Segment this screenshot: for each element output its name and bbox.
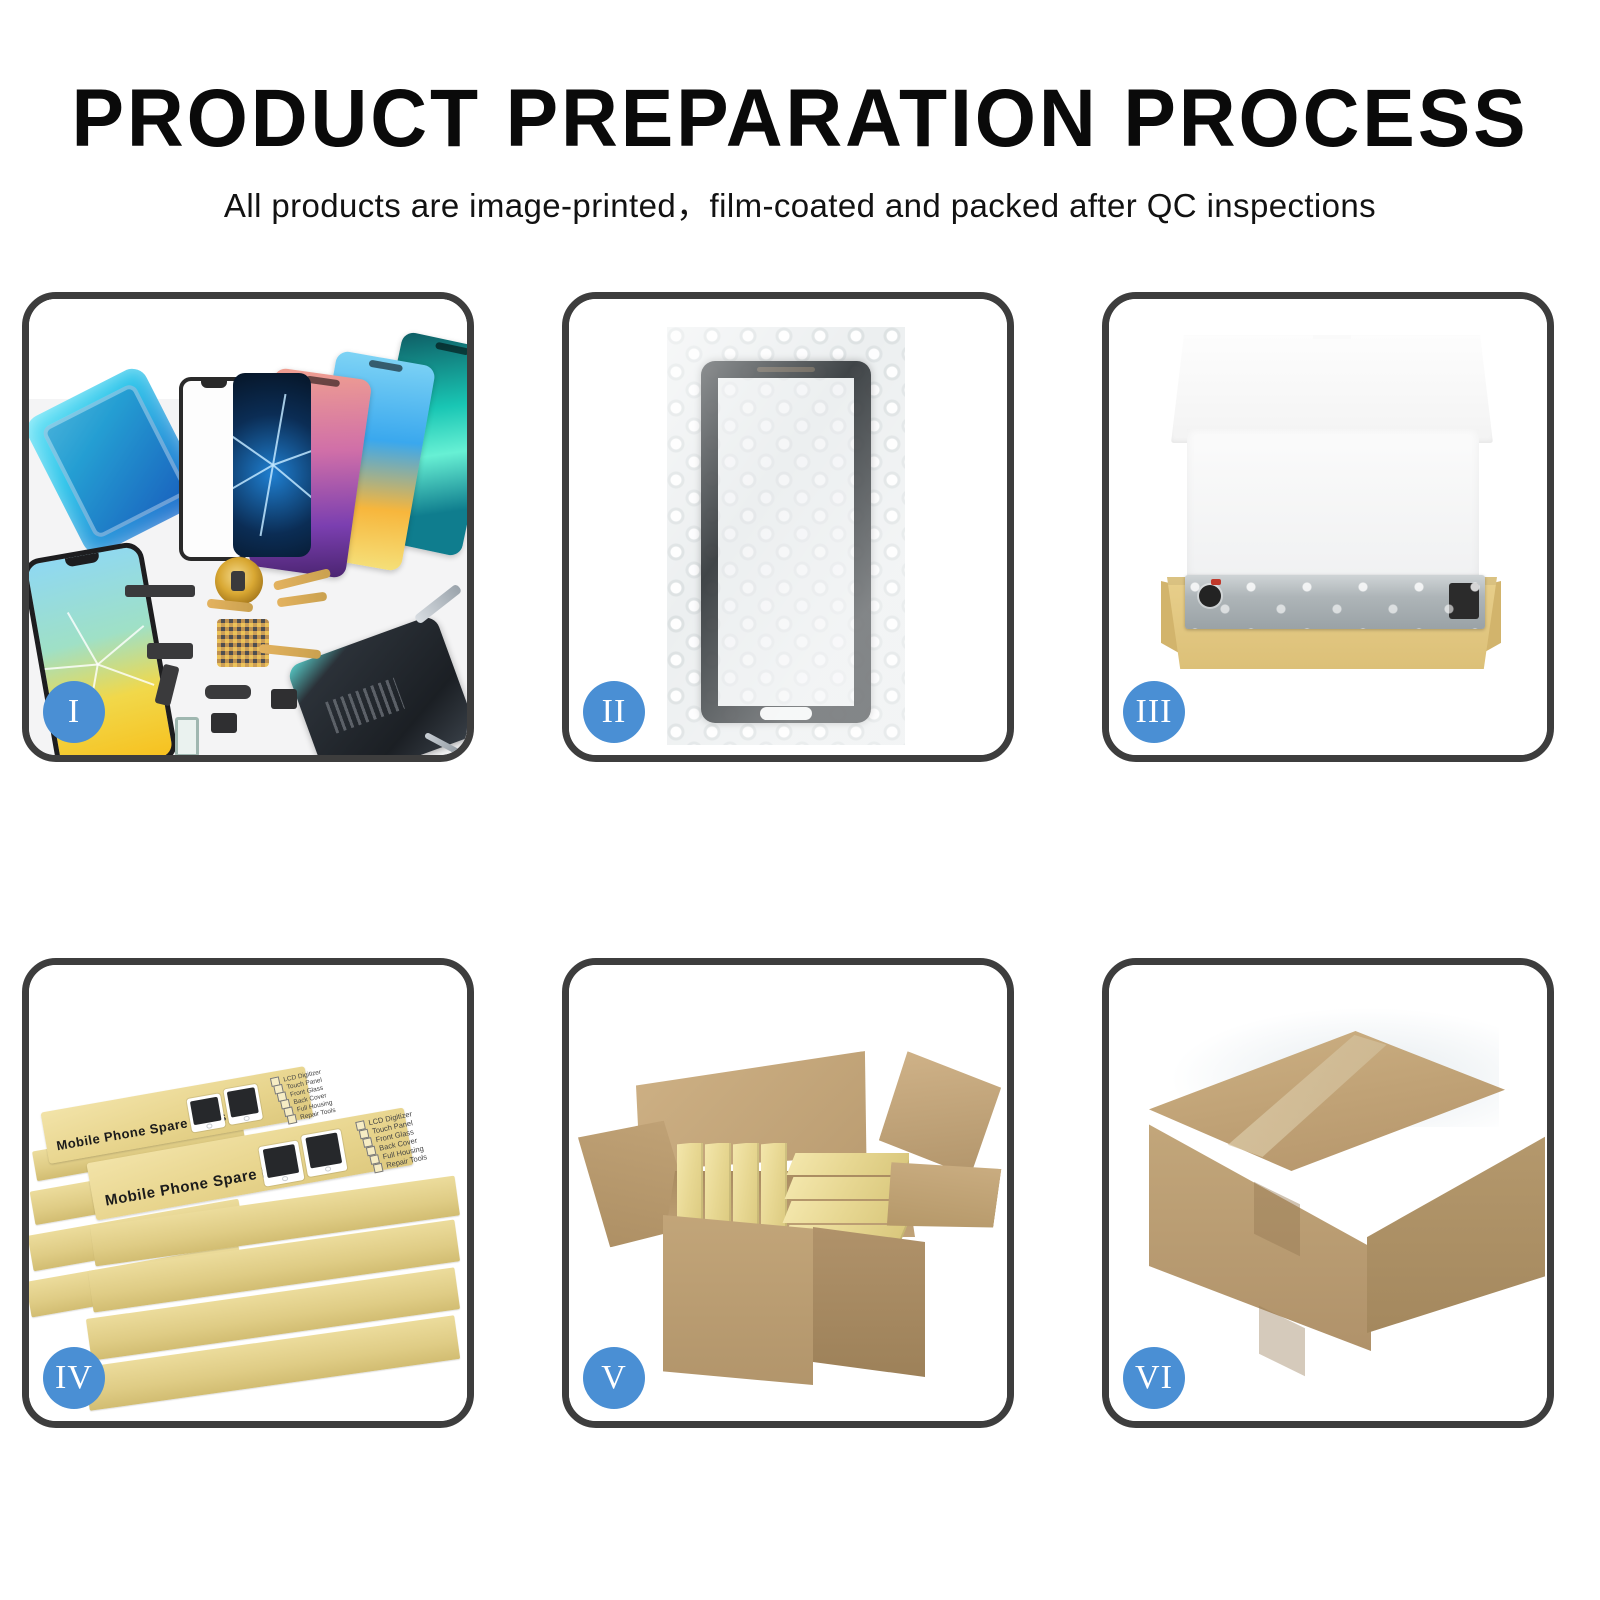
foam-liner (1187, 429, 1479, 579)
notch-icon (435, 342, 467, 356)
crack-line (37, 664, 97, 671)
sealed-carton-scene (1109, 965, 1547, 1421)
step-3-image (1109, 299, 1547, 755)
step-5-image (569, 965, 1007, 1421)
thumb-screen (263, 1144, 300, 1178)
crack-line (272, 394, 286, 465)
thumb-home-button (206, 1123, 213, 1129)
speaker-part (211, 713, 237, 733)
thumb-home-button (243, 1115, 250, 1121)
box-thumb-image (186, 1093, 225, 1132)
crack-line (260, 465, 274, 536)
thumb-home-button (281, 1176, 289, 1182)
connector-block (1449, 583, 1479, 619)
crack-line (97, 664, 154, 686)
mailer-box-scene (1109, 299, 1547, 755)
crack-line (97, 625, 144, 665)
red-tag (1211, 579, 1221, 585)
step-badge-2: II (583, 681, 645, 743)
notch-icon (368, 360, 403, 373)
step-4-image: Mobile Phone Spare Parts LCD Digitizer T… (29, 965, 467, 1421)
spare-parts-scene (29, 299, 467, 755)
gold-box-unit (787, 1153, 909, 1175)
wrapped-screen-in-box (1185, 575, 1485, 629)
step-panel-5[interactable]: V (562, 958, 1014, 1428)
thumb-screen (305, 1133, 342, 1168)
plastic-sheen (667, 327, 905, 745)
process-step-grid: I II (0, 0, 1600, 1600)
crack-line (233, 423, 274, 466)
crack-line (272, 464, 311, 512)
camera-icon (1199, 585, 1221, 607)
box-stack: Mobile Phone Spare Parts LCD Digitizer T… (29, 1005, 467, 1405)
box-thumb-image (258, 1140, 304, 1186)
carton-front-face (663, 1215, 813, 1385)
step-badge-5: V (583, 1347, 645, 1409)
step-panel-2[interactable]: II (562, 292, 1014, 762)
crack-line (66, 612, 98, 665)
step-panel-1[interactable]: I (22, 292, 474, 762)
bubble-wrap-scene (569, 299, 1007, 755)
sim-tray-part (175, 717, 199, 755)
crack-line (273, 439, 311, 466)
ic-chip-part (217, 619, 269, 667)
thumb-screen (227, 1087, 258, 1117)
cracked-lcd-part (233, 373, 311, 557)
step-panel-6[interactable]: VI (1102, 958, 1554, 1428)
step-2-image (569, 299, 1007, 755)
button-bracket-part (147, 643, 193, 659)
speaker-module-part (205, 685, 251, 699)
step-badge-6: VI (1123, 1347, 1185, 1409)
box-thumb-image (301, 1129, 348, 1177)
carton-side-face (813, 1227, 925, 1377)
step-panel-4[interactable]: Mobile Phone Spare Parts LCD Digitizer T… (22, 958, 474, 1428)
thumb-home-button (324, 1166, 332, 1172)
step-panel-3[interactable]: III (1102, 292, 1554, 762)
bubble-wrapped-screen (667, 327, 905, 745)
thumb-screen (190, 1096, 221, 1125)
open-carton-scene (569, 965, 1007, 1421)
step-badge-1: I (43, 681, 105, 743)
retail-box-stack-scene: Mobile Phone Spare Parts LCD Digitizer T… (29, 965, 467, 1421)
step-1-image (29, 299, 467, 755)
wireless-coil-part (215, 557, 263, 605)
carton-right-face (1367, 1115, 1545, 1333)
step-badge-3: III (1123, 681, 1185, 743)
mailer-lid (1171, 335, 1493, 443)
step-badge-4: IV (43, 1347, 105, 1409)
taptic-part (271, 689, 297, 709)
earpiece-mesh-part (125, 585, 195, 597)
logic-board-part (286, 614, 467, 755)
step-6-image (1109, 965, 1547, 1421)
box-thumb-image (223, 1084, 263, 1125)
